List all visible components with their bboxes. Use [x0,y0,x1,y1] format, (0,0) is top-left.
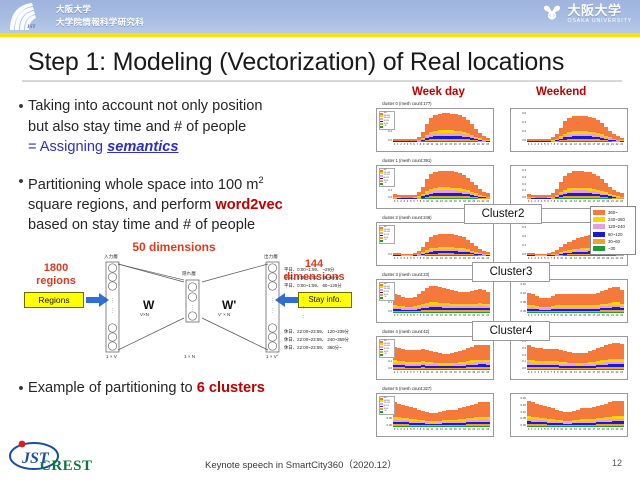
y-tick-label: 0.00 [378,423,392,427]
bar-segment [620,401,624,416]
y-tick-label: 0.1 [378,300,392,304]
legend-label: 120~240 [384,403,390,404]
legend-label: 360~ [384,398,388,399]
chart-title: cluster 5 (mesh count:327) [382,386,432,391]
y-tick-label: 0.10 [512,410,526,414]
x-tick-label: 23 [619,428,624,435]
legend-label: ~30 [384,354,387,355]
bullet2-line2-text: square regions, and perform [28,197,215,213]
legend-label: 120~240 [384,289,390,290]
x-tick-label: 23 [485,143,490,150]
legend-label: 30~60 [384,181,388,182]
legend-label: 120~240 [384,118,390,119]
callout-cluster2: Cluster2 [464,204,542,224]
plot-area [527,168,624,199]
legend-label: 120~240 [384,175,390,176]
bar [486,292,490,313]
osaka-university-mark-icon [541,4,563,24]
bar-segment [486,426,490,427]
y-tick-label: 0.6 [512,111,526,115]
bullet1-line1: Taking into account not only position [28,96,262,117]
legend-label: 30~60 [384,124,388,125]
legend-label: 30~60 [608,239,620,244]
legend-label: 360~ [384,113,388,114]
y-tick-label: 0.10 [512,291,526,295]
y-tick-label: 0.00 [512,423,526,427]
chart-panel-right: 0.40.30.20.10.00123456789101112131415161… [510,165,628,209]
y-tick-label: 0.00 [512,309,526,313]
bar-segment [620,426,624,427]
six-clusters-emphasis: 6 clusters [197,380,265,396]
y-axis-ticks: 0.30.20.10.0 [512,225,526,256]
bar-series [527,168,624,199]
chart-title: cluster 1 (mesh count:391) [382,158,432,163]
bullet-text: Partitioning whole space into 100 m2 squ… [28,171,283,236]
legend-label: 60~120 [384,292,389,293]
bar-segment [486,369,490,370]
svg-text:JST: JST [27,25,36,30]
y-tick-label: 0.3 [512,346,526,350]
legend-label: 240~360 [384,344,390,345]
chart-inline-legend: 360~240~360120~24060~12030~60~30 [379,339,395,358]
legend-swatch [593,232,605,237]
svg-text:⋮: ⋮ [110,308,115,314]
legend-swatch [593,217,605,222]
cluster-charts-panel: Week day Weekend cluster 0 (mesh count:1… [368,86,636,426]
bar-series [393,225,490,256]
plot-area [393,282,490,313]
legend-label: 120~240 [384,346,390,347]
word2vec-emphasis: word2vec [215,197,282,213]
header-white-rule [0,37,640,39]
legend-entry: 60~120 [593,231,633,238]
output-row-2: 平日、0:00~1:59、 60~120分 [284,282,342,289]
legend-label: 240~360 [384,287,390,288]
legend-label: 240~360 [384,230,390,231]
legend-entry: ~30 [380,182,393,185]
bar-series [393,282,490,313]
chart-title: cluster 2 (mesh count:246) [382,215,432,220]
y-tick-label: 0.05 [512,300,526,304]
y-tick-label: 0.0 [378,252,392,256]
bar-series [527,339,624,370]
y-tick-label: 0.0 [512,195,526,199]
x-tick-label: 23 [485,371,490,378]
y-tick-label: 0.1 [378,359,392,363]
x-axis-ticks: 01234567891011121314151617181920212223 [393,428,490,435]
plot-area [527,111,624,142]
word2vec-network-figure: 1800 regions Regions 50 dimensions 144 d… [16,240,360,368]
hidden-layer-jp-label: 隠れ層 [182,271,196,277]
legend-label: 60~120 [384,235,389,236]
legend-label: 360~ [384,341,388,342]
legend-label: 30~60 [384,295,388,296]
bar [486,345,490,370]
y-axis-ticks: 0.40.30.20.10.0 [512,339,526,370]
legend-label: 60~120 [384,349,389,350]
legend-label: 120~240 [384,232,390,233]
legend-label: 30~60 [384,409,388,410]
page-number: 12 [612,458,622,468]
bar-series [393,168,490,199]
bar [620,193,624,199]
legend-label: 240~360 [608,217,625,222]
bar-series [527,396,624,427]
y-tick-label: 0.2 [512,353,526,357]
y-tick-label: 0.1 [512,188,526,192]
bar [620,138,624,142]
chart-inline-legend: 360~240~360120~24060~12030~60~30 [379,168,395,187]
bar-segment [486,292,490,305]
x-tick-label: 23 [619,314,624,321]
legend-label: 360~ [384,170,388,171]
chart-panel-right: 0.40.30.20.10.00123456789101112131415161… [510,336,628,380]
chart-inline-legend: 360~240~360120~24060~12030~60~30 [379,111,395,130]
bar-segment [620,312,624,313]
chart-panel-left: 0.20.10.00123456789101112131415161718192… [376,222,494,266]
chart-panel-right: 0.150.100.050.00012345678910111213141516… [510,279,628,323]
chart-title: cluster 4 (mesh count:42) [382,329,429,334]
weight-matrix-w-subscript: V×N [140,312,149,317]
plot-area [393,168,490,199]
chart-inline-legend: 360~240~360120~24060~12030~60~30 [379,396,395,415]
chart-panel-left: 0.40.30.20.10.00123456789101112131415161… [376,165,494,209]
header-org-name: 大阪大学 大学院情報科学研究科 [56,3,144,29]
bar-segment [486,402,490,417]
bar-series [393,111,490,142]
bar [486,138,490,142]
chart-title: cluster 0 (mesh count:177) [382,101,432,106]
plot-area [393,225,490,256]
legend-label: 30~60 [384,352,388,353]
x-axis-ticks: 01234567891011121314151617181920212223 [393,371,490,378]
weight-matrix-wprime-subscript: V' × N [218,312,230,317]
y-tick-label: 0.2 [512,182,526,186]
bullet2-line3: based on stay time and # of people [28,215,283,236]
plot-area [527,396,624,427]
x-axis-ticks: 01234567891011121314151617181920212223 [393,143,490,150]
x-axis-ticks: 01234567891011121314151617181920212223 [527,314,624,321]
legend-label: 30~60 [384,238,388,239]
x-axis-ticks: 01234567891011121314151617181920212223 [527,143,624,150]
legend-label: ~30 [384,411,387,412]
weight-matrix-wprime-label: W' [222,298,236,312]
jst-fan-logo: JST [6,2,50,32]
callout-cluster4: Cluster4 [472,321,550,341]
y-tick-label: 0.4 [512,120,526,124]
y-axis-ticks: 0.40.30.20.10.0 [512,168,526,199]
plot-area [393,111,490,142]
bar [620,344,624,370]
legend-swatch [593,224,605,229]
legend-label: 240~360 [384,173,390,174]
legend-label: 120~240 [608,224,625,229]
column-header-weekday: Week day [412,86,465,98]
y-tick-label: 0.0 [378,195,392,199]
y-tick-label: 0.15 [512,403,526,407]
bar-segment [620,290,624,304]
output-row-1: 平日、0:00~1:59、 30~59分 [284,274,339,281]
output-row-4: ： [302,304,306,311]
legend-label: 60~120 [384,121,389,122]
legend-entry: ~30 [380,410,393,413]
brand-name-en: OSAKA UNIVERSITY [567,19,632,24]
bar [486,193,490,199]
chart-panel-left: 0.60.40.20.00123456789101112131415161718… [376,108,494,152]
weight-matrix-w-label: W [143,298,154,312]
legend-label: 60~120 [384,178,389,179]
output-row-3: ： [302,295,306,302]
plot-area [393,396,490,427]
y-tick-label: 0.05 [512,416,526,420]
bullet3-text: Example of partitioning to [28,380,197,396]
bullet-marker: • [14,378,28,399]
x-tick-label: 23 [485,314,490,321]
output-row-8: 休日、22:00~23:59、 360分~ [284,344,342,351]
y-tick-label: 0.3 [512,225,526,229]
legend-label: 240~360 [384,401,390,402]
y-tick-label: 0.1 [378,188,392,192]
y-tick-label: 0.05 [378,416,392,420]
bullet2-line1-text: Partitioning whole space into 100 m [28,176,258,192]
svg-text:⋮: ⋮ [190,305,195,311]
semantics-emphasis: semantics [107,139,178,155]
chart-row: cluster 0 (mesh count:177)0.60.40.20.001… [368,102,636,156]
legend-label: 60~120 [384,406,389,407]
bullet1-line3: = Assigning semantics [28,137,262,158]
legend-label: 60~120 [608,232,622,237]
legend-entry: 120~240 [593,223,633,230]
output-row-6: 休日、22:00~23:59、 120~239分 [284,328,349,335]
x-tick-label: 23 [619,257,624,264]
chart-panel-left: 0.200.150.100.050.0001234567891011121314… [376,393,494,437]
input-layer-jp-label: 入力層 [104,254,118,260]
output-row-0: 平日、0:00~1:59、 ~29分 [284,266,334,273]
bar-series [527,111,624,142]
legend-entry: 360~ [593,209,633,216]
stay-time-legend: 360~240~360120~24060~12030~60~30 [590,206,636,255]
chart-panel-right: 0.60.40.20.00123456789101112131415161718… [510,108,628,152]
bullet2-line1: Partitioning whole space into 100 m2 [28,171,283,195]
chart-panel-left: 0.40.30.20.10.00123456789101112131415161… [376,336,494,380]
bullet-marker: • [14,171,28,236]
slide-header-band: JST 大阪大学 大学院情報科学研究科 大阪大学 OSAKA UNIVERSIT… [0,0,640,33]
bullet-list-bottom: • Example of partitioning to 6 clusters [14,378,364,412]
legend-entry: ~30 [380,353,393,356]
legend-entry: ~30 [380,125,393,128]
legend-label: ~30 [608,246,615,251]
legend-label: ~30 [384,297,387,298]
bullet-list: • Taking into account not only position … [14,96,364,249]
y-tick-label: 0.0 [378,366,392,370]
legend-label: 240~360 [384,116,390,117]
bullet1-line3-prefix: = Assigning [28,139,107,155]
bar-segment [486,345,490,360]
svg-text:⋮: ⋮ [270,298,275,304]
legend-entry: 30~60 [593,238,633,245]
plot-area [393,339,490,370]
bar [620,290,624,313]
page-title: Step 1: Modeling (Vectorization) of Real… [28,48,618,77]
bullet-text: Example of partitioning to 6 clusters [28,378,265,399]
bullet-text: Taking into account not only position bu… [28,96,262,158]
bar [620,401,624,427]
input-dim-label: 1 × V [106,354,117,359]
legend-swatch [593,239,605,244]
column-header-weekend: Weekend [536,86,586,98]
chart-title: cluster 3 (mesh count:23) [382,272,429,277]
legend-entry: ~30 [380,239,393,242]
y-tick-label: 0.2 [378,129,392,133]
legend-label: 360~ [384,227,388,228]
legend-entry: ~30 [380,296,393,299]
output-layer-jp-label: 出力層 [264,254,278,260]
bar-segment [620,344,624,359]
list-item: • Taking into account not only position … [14,96,364,158]
plot-area [527,339,624,370]
chart-inline-legend: 360~240~360120~24060~12030~60~30 [379,282,395,301]
svg-text:⋮: ⋮ [270,308,275,314]
bar-series [393,396,490,427]
chart-row: cluster 5 (mesh count:327)0.200.150.100.… [368,387,636,441]
chart-inline-legend: 360~240~360120~24060~12030~60~30 [379,225,395,244]
legend-label: ~30 [384,183,387,184]
header-org-line1: 大阪大学 [56,3,144,16]
bar-segment [486,312,490,313]
y-tick-label: 0.2 [512,234,526,238]
osaka-university-logo: 大阪大学 OSAKA UNIVERSITY [541,4,632,24]
y-tick-label: 0.4 [512,168,526,172]
bullet2-line2: square regions, and perform word2vec [28,195,283,216]
y-tick-label: 0.2 [512,129,526,133]
y-axis-ticks: 0.200.150.100.050.00 [512,396,526,427]
list-item: • Example of partitioning to 6 clusters [14,378,364,399]
x-tick-label: 23 [619,371,624,378]
legend-entry: 240~360 [593,216,633,223]
legend-label: 360~ [608,210,618,215]
y-tick-label: 0.0 [378,138,392,142]
bar [486,252,490,256]
y-tick-label: 0.0 [512,366,526,370]
y-axis-ticks: 0.150.100.050.00 [512,282,526,313]
output-row-7: 休日、22:00~23:59、 240~359分 [284,336,349,343]
y-tick-label: 0.15 [512,282,526,286]
x-tick-label: 23 [485,428,490,435]
bar-segment [620,369,624,370]
y-tick-label: 0.1 [512,359,526,363]
legend-swatch [593,210,605,215]
y-axis-ticks: 0.60.40.20.0 [512,111,526,142]
svg-text:⋮: ⋮ [110,298,115,304]
y-tick-label: 0.0 [512,138,526,142]
y-tick-label: 0.1 [512,243,526,247]
footer-note: Keynote speech in SmartCity360（2020.12） [205,457,397,471]
output-dim-label: 1 × V' [266,354,278,359]
x-axis-ticks: 01234567891011121314151617181920212223 [393,314,490,321]
bar-series [527,282,624,313]
legend-label: ~30 [384,240,387,241]
callout-cluster3: Cluster3 [472,262,550,282]
crest-wordmark: CREST [40,458,93,475]
hidden-dim-label: 1 × N [184,354,195,359]
bullet1-line2: but also stay time and # of people [28,117,262,138]
plot-area [527,282,624,313]
legend-entry: ~30 [593,245,633,252]
bullet-marker: • [14,96,28,158]
legend-label: 360~ [384,284,388,285]
list-item: • Partitioning whole space into 100 m2 s… [14,171,364,236]
chart-panel-left: 0.30.20.10.00123456789101112131415161718… [376,279,494,323]
y-tick-label: 0.3 [512,175,526,179]
x-tick-label: 23 [619,143,624,150]
y-tick-label: 0.20 [512,396,526,400]
x-axis-ticks: 01234567891011121314151617181920212223 [527,371,624,378]
legend-label: ~30 [384,126,387,127]
legend-swatch [593,246,605,251]
x-axis-ticks: 01234567891011121314151617181920212223 [527,428,624,435]
brand-name-jp: 大阪大学 [567,4,632,17]
title-divider [22,80,622,82]
header-org-line2: 大学院情報科学研究科 [56,16,144,29]
y-tick-label: 0.0 [378,309,392,313]
chart-panel-right: 0.200.150.100.050.0001234567891011121314… [510,393,628,437]
bar [486,402,490,427]
bar-series [393,339,490,370]
y-tick-label: 0.0 [512,252,526,256]
output-row-5: ： [302,313,306,320]
bullet2-superscript: 2 [258,175,263,186]
